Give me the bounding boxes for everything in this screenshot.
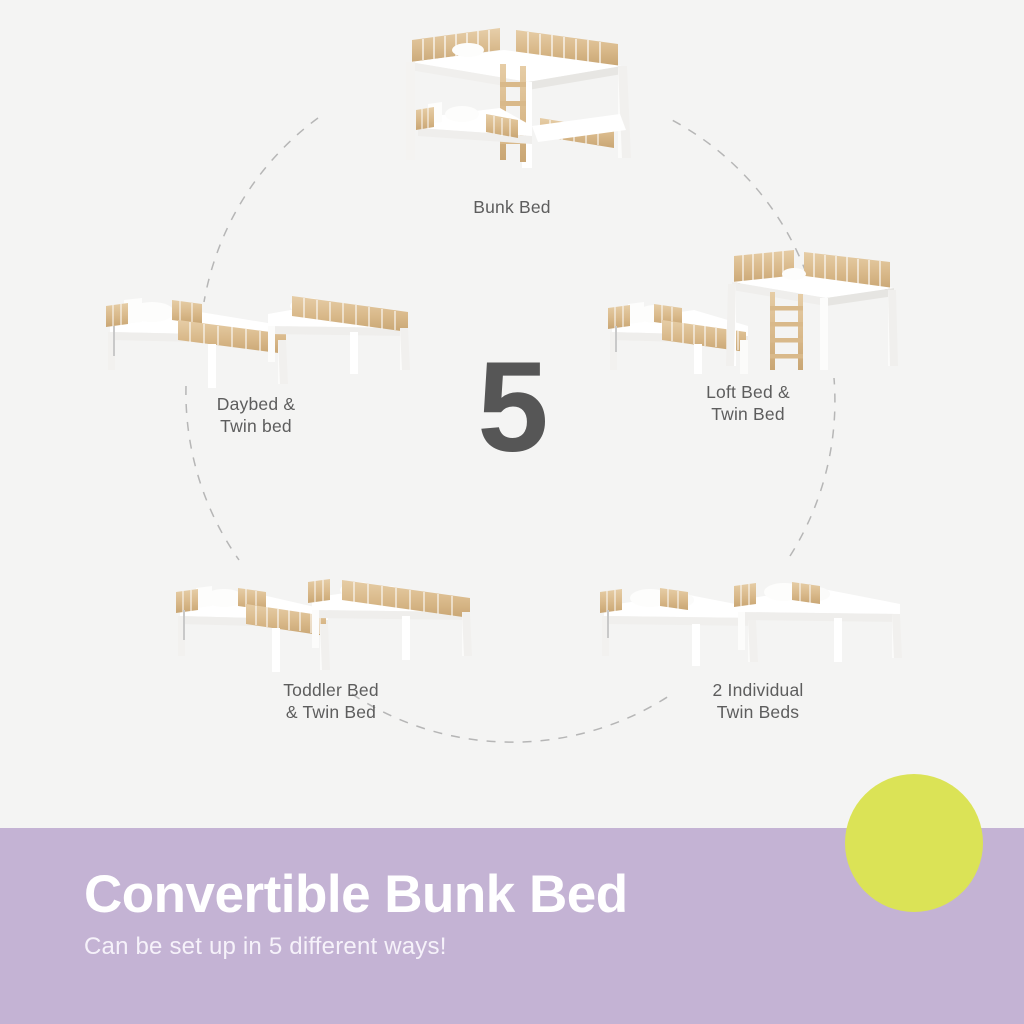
node-loft-bed-twin-bed: Loft Bed & Twin Bed [598, 248, 898, 426]
banner-subtitle: Can be set up in 5 different ways! [84, 935, 628, 959]
daybed-twin-bed-illustration [96, 274, 416, 388]
node-label-bunk-bed: Bunk Bed [382, 196, 642, 218]
node-daybed-twin-bed: Daybed & Twin bed [96, 274, 416, 438]
decorative-dot-top-right [845, 774, 983, 912]
infographic-canvas: 5 [0, 0, 1024, 1024]
two-individual-twin-beds-illustration [588, 556, 928, 674]
loft-bed-twin-bed-illustration [598, 248, 898, 374]
banner-title: Convertible Bunk Bed [84, 868, 628, 921]
node-label-loft-bed-twin-bed: Loft Bed & Twin Bed [598, 381, 898, 426]
node-label-two-individual-twin-beds: 2 Individual Twin Beds [588, 679, 928, 724]
node-two-individual-twin-beds: 2 Individual Twin Beds [588, 556, 928, 724]
banner-text-block: Convertible Bunk Bed Can be set up in 5 … [84, 868, 628, 959]
node-toddler-bed-twin-bed: Toddler Bed & Twin Bed [166, 554, 496, 724]
toddler-bed-twin-bed-illustration [166, 554, 496, 674]
bunk-bed-illustration [382, 6, 642, 191]
node-label-daybed-twin-bed: Daybed & Twin bed [96, 393, 416, 438]
node-bunk-bed: Bunk Bed [382, 6, 642, 218]
node-label-toddler-bed-twin-bed: Toddler Bed & Twin Bed [166, 679, 496, 724]
